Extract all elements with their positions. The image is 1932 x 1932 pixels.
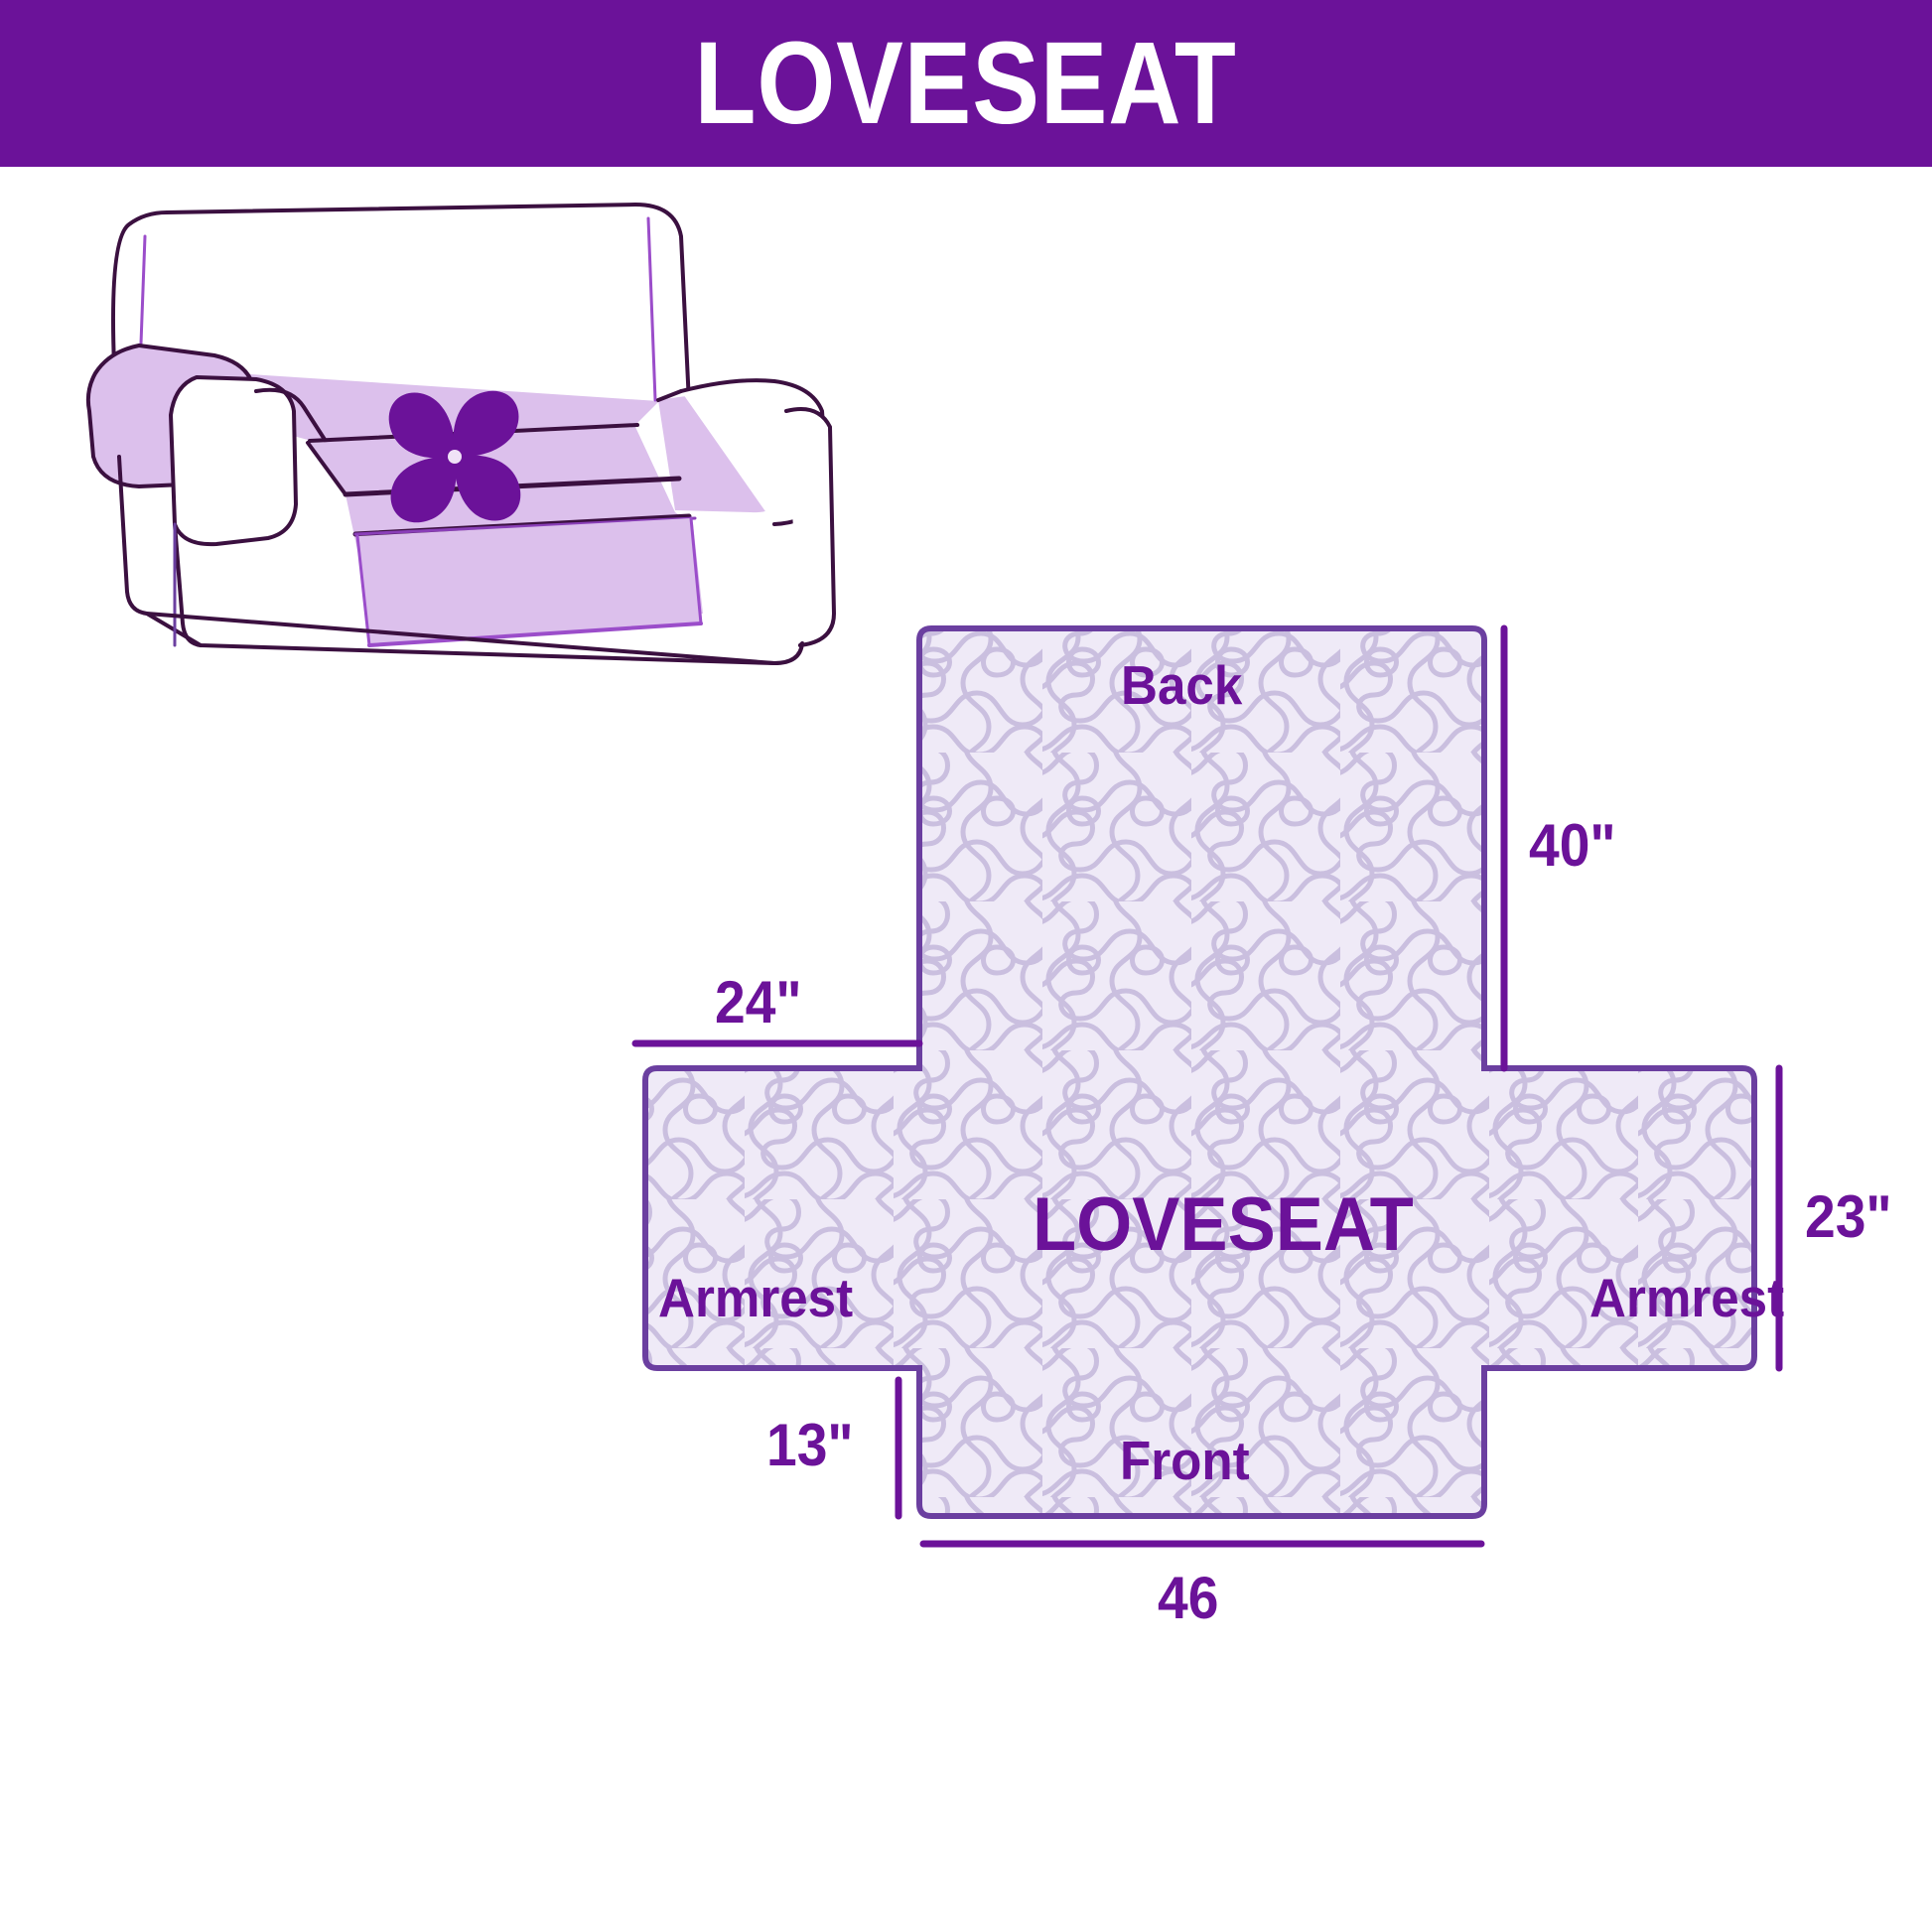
- panel-label-armrest-right: Armrest: [1589, 1271, 1784, 1325]
- panel-label-front: Front: [1120, 1434, 1250, 1488]
- header-banner: LOVESEAT: [0, 0, 1932, 167]
- center-label-loveseat: LOVESEAT: [1033, 1187, 1414, 1263]
- dimension-label-24: 24": [715, 973, 802, 1033]
- page-title: LOVESEAT: [695, 25, 1237, 142]
- dimension-label-46: 46: [1158, 1569, 1218, 1628]
- panel-label-back: Back: [1121, 658, 1242, 713]
- loveseat-pattern-diagram: Back Armrest Armrest Front LOVESEAT 40" …: [596, 604, 1932, 1775]
- dimension-label-40: 40": [1529, 816, 1616, 876]
- sofa-left-arm-front: [171, 377, 296, 544]
- dimension-label-23: 23": [1805, 1187, 1892, 1247]
- panel-label-armrest-left: Armrest: [658, 1271, 853, 1325]
- dimension-label-13: 13": [766, 1416, 854, 1475]
- diagram-stage: Back Armrest Armrest Front LOVESEAT 40" …: [0, 167, 1932, 1932]
